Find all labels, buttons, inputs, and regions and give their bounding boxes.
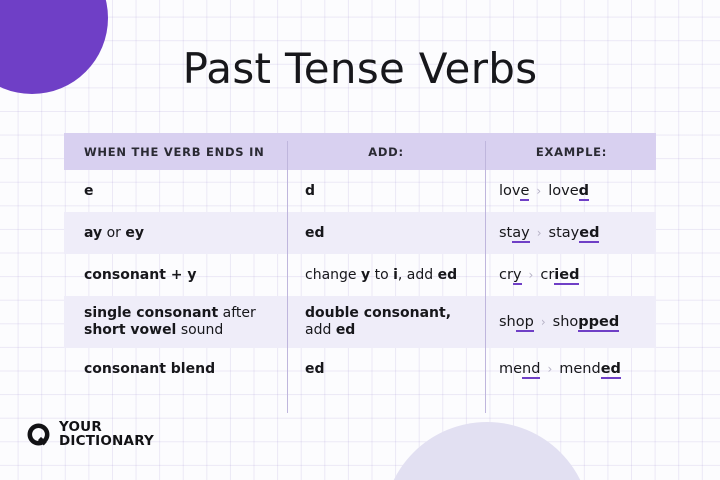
cell-add: double consonant,add ed [287, 305, 485, 339]
example-base: stay [499, 225, 530, 241]
cell-example: shop›shopped [485, 314, 656, 330]
header-label-add: ADD: [305, 145, 485, 159]
rule-text: consonant + y [84, 267, 287, 284]
table-row: edlove›loved [64, 170, 656, 212]
example-result: cried [540, 267, 579, 283]
add-text: d [305, 183, 485, 200]
past-tense-rules-table: WHEN THE VERB ENDS IN ADD: EXAMPLE: edlo… [64, 133, 656, 390]
example-result: loved [548, 183, 589, 199]
header-cell-rule: WHEN THE VERB ENDS IN [64, 145, 287, 159]
example-result: shopped [553, 314, 620, 330]
arrow-icon: › [541, 315, 546, 329]
table-header-row: WHEN THE VERB ENDS IN ADD: EXAMPLE: [64, 133, 656, 170]
rule-text: ay or ey [84, 225, 287, 242]
add-text: ed [305, 361, 485, 378]
example-result: stayed [549, 225, 600, 241]
table-row: ay or eyedstay›stayed [64, 212, 656, 254]
example-base: shop [499, 314, 534, 330]
decorative-lavender-circle [383, 422, 591, 480]
example-text: shop›shopped [499, 314, 656, 330]
rule-text: consonant blend [84, 361, 287, 378]
example-base: cry [499, 267, 522, 283]
add-text: double consonant,add ed [305, 305, 485, 339]
brand-logo-text: YOUR DICTIONARY [59, 420, 154, 448]
header-cell-example: EXAMPLE: [485, 145, 656, 159]
column-divider-2 [485, 141, 486, 413]
example-text: mend›mended [499, 361, 656, 377]
example-base: mend [499, 361, 540, 377]
cell-example: mend›mended [485, 361, 656, 377]
example-base: love [499, 183, 529, 199]
arrow-icon: › [536, 184, 541, 198]
example-result: mended [559, 361, 621, 377]
cell-add: d [287, 183, 485, 200]
rule-text: e [84, 183, 287, 200]
cell-example: love›loved [485, 183, 656, 199]
cell-example: stay›stayed [485, 225, 656, 241]
ring-q-icon [26, 422, 51, 447]
cell-rule: ay or ey [64, 225, 287, 242]
table-row: single consonant aftershort vowel soundd… [64, 296, 656, 348]
brand-line-1: YOUR [59, 420, 154, 434]
cell-rule: single consonant aftershort vowel sound [64, 305, 287, 339]
rule-text: single consonant aftershort vowel sound [84, 305, 287, 339]
column-divider-1 [287, 141, 288, 413]
infographic-canvas: Past Tense Verbs WHEN THE VERB ENDS IN A… [0, 0, 720, 480]
add-text: change y to i, add ed [305, 267, 485, 284]
add-text: ed [305, 225, 485, 242]
arrow-icon: › [537, 226, 542, 240]
arrow-icon: › [529, 268, 534, 282]
header-label-rule: WHEN THE VERB ENDS IN [84, 145, 287, 159]
cell-rule: consonant + y [64, 267, 287, 284]
page-title: Past Tense Verbs [0, 44, 720, 93]
brand-logo[interactable]: YOUR DICTIONARY [26, 420, 154, 448]
header-cell-add: ADD: [287, 145, 485, 159]
table-row: consonant + ychange y to i, add edcry›cr… [64, 254, 656, 296]
cell-add: ed [287, 361, 485, 378]
arrow-icon: › [547, 362, 552, 376]
header-label-example: EXAMPLE: [499, 145, 656, 159]
table-row: consonant blendedmend›mended [64, 348, 656, 390]
example-text: cry›cried [499, 267, 656, 283]
cell-example: cry›cried [485, 267, 656, 283]
table-body: edlove›loveday or eyedstay›stayedconsona… [64, 170, 656, 390]
cell-add: change y to i, add ed [287, 267, 485, 284]
example-text: love›loved [499, 183, 656, 199]
cell-rule: consonant blend [64, 361, 287, 378]
example-text: stay›stayed [499, 225, 656, 241]
cell-add: ed [287, 225, 485, 242]
cell-rule: e [64, 183, 287, 200]
brand-line-2: DICTIONARY [59, 434, 154, 448]
